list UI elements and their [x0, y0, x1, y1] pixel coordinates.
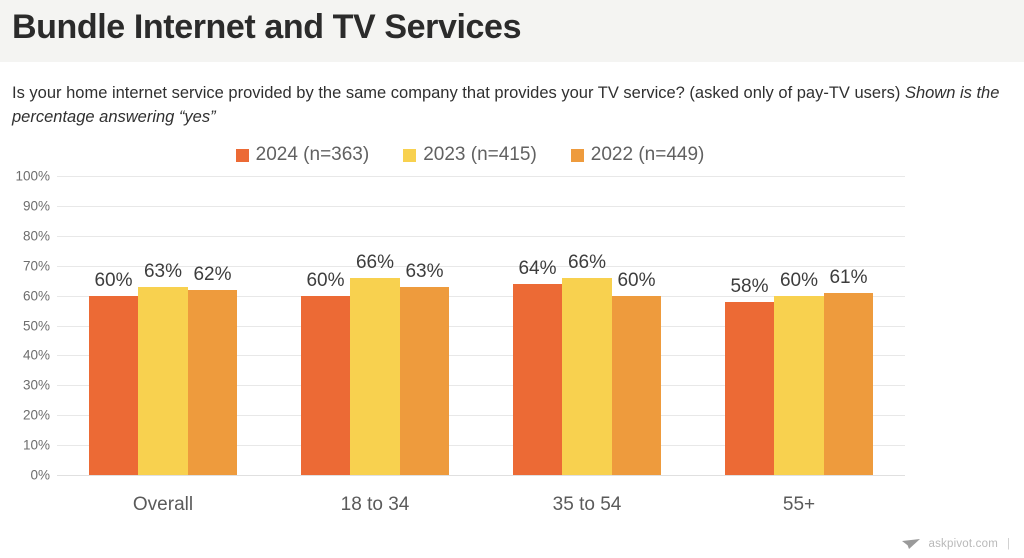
x-axis-category-label: 55+	[783, 494, 815, 516]
bar-value-label: 66%	[356, 252, 394, 274]
gridline	[57, 475, 905, 476]
bar[interactable]	[138, 287, 188, 475]
y-axis-tick-label: 60%	[23, 288, 50, 303]
bar-value-label: 60%	[780, 270, 818, 292]
chart-legend: 2024 (n=363)2023 (n=415)2022 (n=449)	[0, 144, 940, 166]
legend-label: 2022 (n=449)	[591, 144, 705, 166]
bar[interactable]	[350, 278, 400, 475]
legend-swatch-icon	[571, 149, 584, 162]
bar-value-label: 63%	[405, 261, 443, 283]
bar[interactable]	[562, 278, 612, 475]
y-axis-tick-label: 20%	[23, 408, 50, 423]
y-axis-tick-label: 10%	[23, 438, 50, 453]
bar[interactable]	[301, 296, 351, 475]
gridline	[57, 176, 905, 177]
bar-value-label: 60%	[94, 270, 132, 292]
x-axis-category-label: 35 to 54	[553, 494, 622, 516]
legend-swatch-icon	[403, 149, 416, 162]
x-axis-category-label: 18 to 34	[341, 494, 410, 516]
bar-value-label: 62%	[193, 264, 231, 286]
gridline	[57, 236, 905, 237]
legend-swatch-icon	[236, 149, 249, 162]
y-axis-tick-label: 70%	[23, 258, 50, 273]
bar-value-label: 60%	[617, 270, 655, 292]
chart-canvas: 0%10%20%30%40%50%60%70%80%90%100% 60%63%…	[0, 170, 1024, 530]
bar-value-label: 61%	[829, 267, 867, 289]
bar-value-label: 60%	[306, 270, 344, 292]
bar[interactable]	[513, 284, 563, 475]
subtitle-question: Is your home internet service provided b…	[12, 84, 905, 102]
bar[interactable]	[188, 290, 238, 475]
y-axis-tick-label: 0%	[30, 468, 50, 483]
y-axis-tick-label: 100%	[15, 169, 50, 184]
page-title: Bundle Internet and TV Services	[12, 8, 521, 47]
chart-subtitle: Is your home internet service provided b…	[12, 81, 1007, 129]
legend-label: 2023 (n=415)	[423, 144, 537, 166]
footer-site[interactable]: askpivot.com	[928, 538, 998, 550]
bar[interactable]	[774, 296, 824, 475]
y-axis-tick-label: 40%	[23, 348, 50, 363]
bar[interactable]	[612, 296, 662, 475]
x-axis-category-label: Overall	[133, 494, 193, 516]
bar[interactable]	[824, 293, 874, 475]
y-axis: 0%10%20%30%40%50%60%70%80%90%100%	[0, 176, 50, 475]
bar[interactable]	[89, 296, 139, 475]
legend-item-1[interactable]: 2023 (n=415)	[403, 144, 537, 166]
bar[interactable]	[400, 287, 450, 475]
legend-label: 2024 (n=363)	[256, 144, 370, 166]
gridline	[57, 266, 905, 267]
paper-plane-icon	[901, 538, 921, 550]
legend-item-0[interactable]: 2024 (n=363)	[236, 144, 370, 166]
footer-watermark: askpivot.com |	[901, 538, 1010, 550]
bar[interactable]	[725, 302, 775, 475]
plot-area: 60%63%62%Overall60%66%63%18 to 3464%66%6…	[57, 176, 905, 475]
y-axis-tick-label: 80%	[23, 228, 50, 243]
y-axis-tick-label: 30%	[23, 378, 50, 393]
gridline	[57, 206, 905, 207]
legend-item-2[interactable]: 2022 (n=449)	[571, 144, 705, 166]
bar-value-label: 58%	[730, 276, 768, 298]
bar-value-label: 66%	[568, 252, 606, 274]
bar-value-label: 63%	[144, 261, 182, 283]
bar-value-label: 64%	[518, 258, 556, 280]
y-axis-tick-label: 90%	[23, 198, 50, 213]
footer-separator: |	[1007, 538, 1010, 550]
y-axis-tick-label: 50%	[23, 318, 50, 333]
header-band: Bundle Internet and TV Services	[0, 0, 1024, 62]
